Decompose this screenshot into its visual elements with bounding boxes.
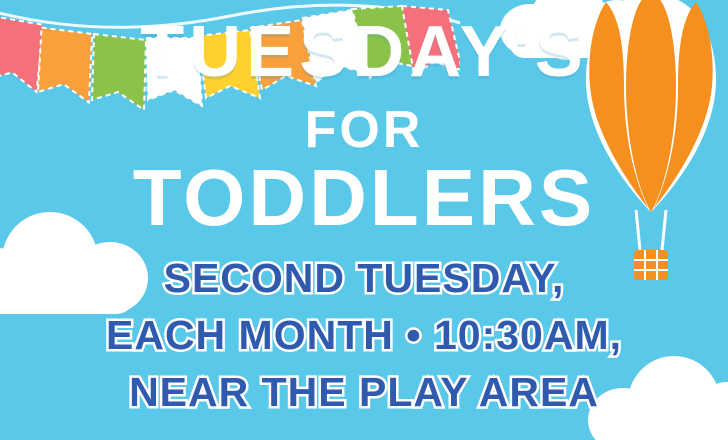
headline-line-1: TUESDAY'S <box>0 16 728 88</box>
headline-line-3: TODDLERS <box>0 158 728 238</box>
headline-line-2: FOR <box>0 104 728 156</box>
cloud-base <box>598 412 728 440</box>
details-line-2: EACH MONTH • 10:30AM, <box>0 315 728 356</box>
details-line-3: NEAR THE PLAY AREA <box>0 372 728 413</box>
poster-canvas: TUESDAY'S FOR TODDLERS SECOND TUESDAY, E… <box>0 0 728 440</box>
details-line-1: SECOND TUESDAY, <box>0 258 728 299</box>
